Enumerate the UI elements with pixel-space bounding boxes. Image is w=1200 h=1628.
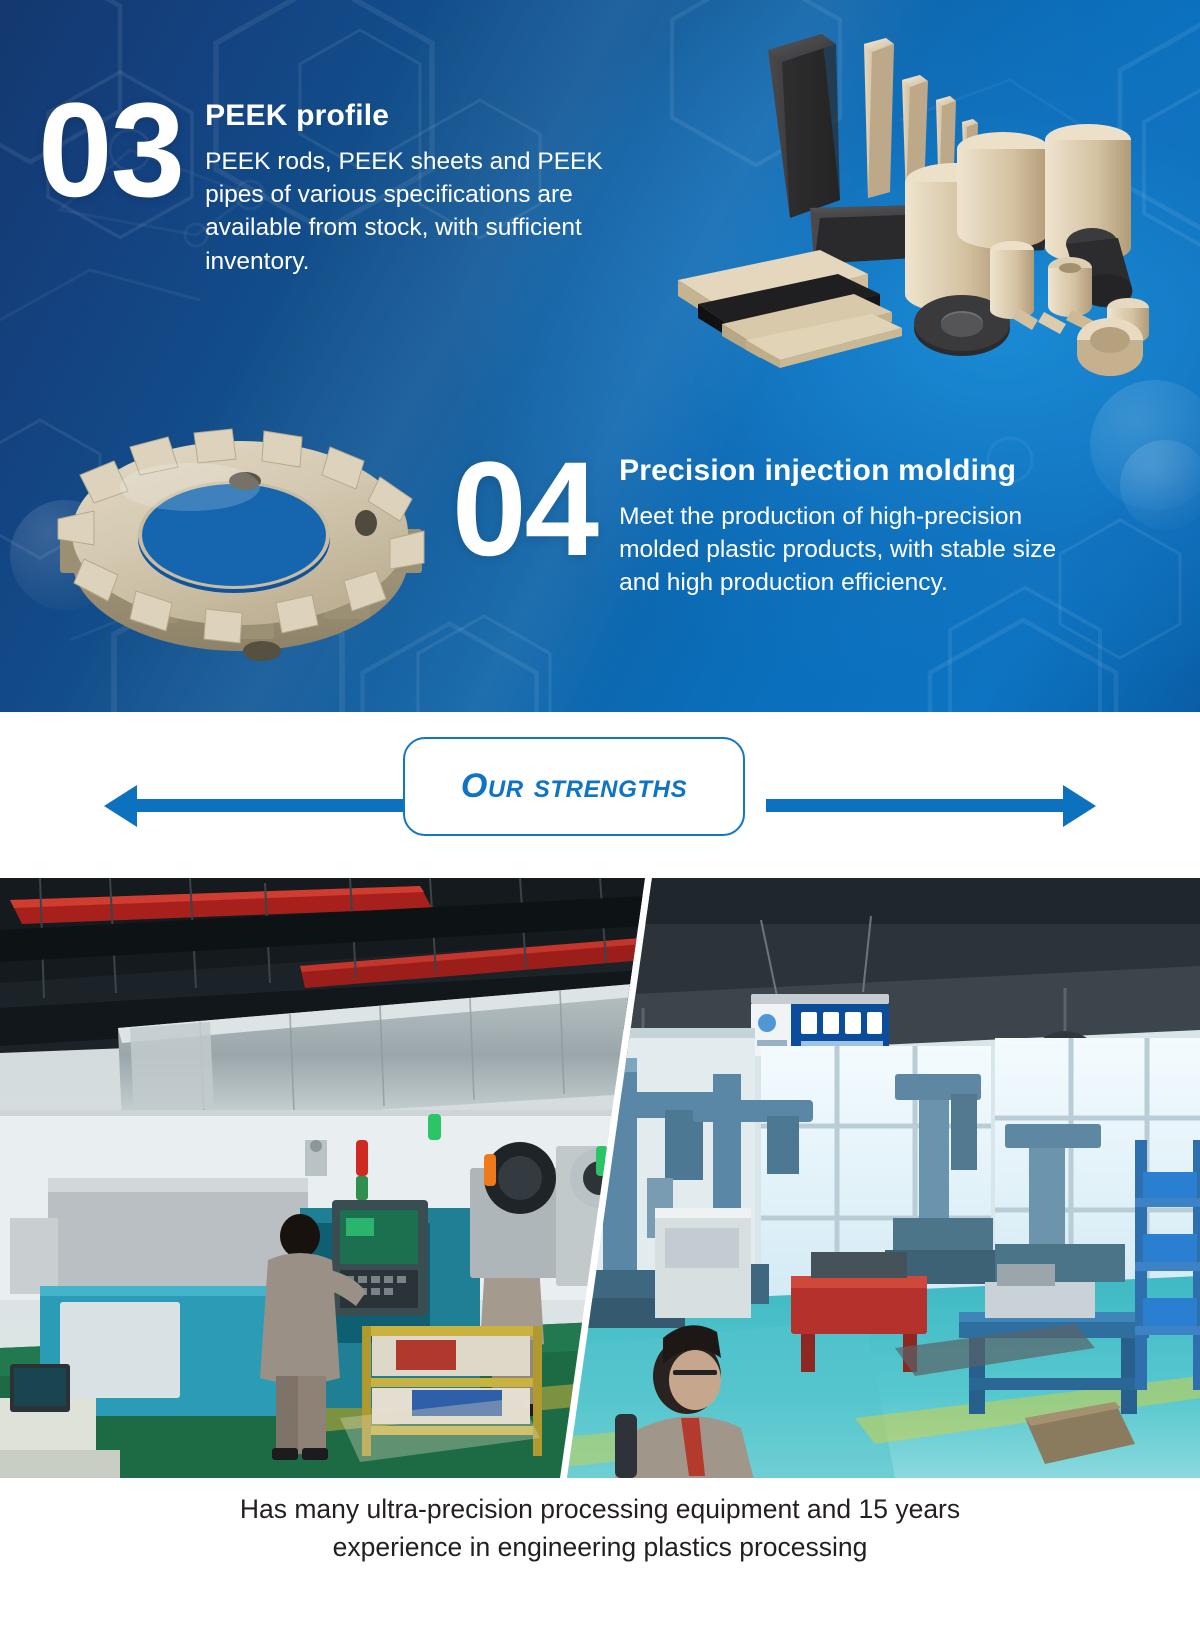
feature-number-03: 03 [38,89,183,212]
cnc-machining-workshop-photo [0,878,645,1478]
gallery-caption: Has many ultra-precision processing equi… [0,1490,1200,1567]
right-arrow-line [766,799,1066,812]
factory-photo-gallery [0,878,1200,1478]
page-root: 03 PEEK profile PEEK rods, PEEK sheets a… [0,0,1200,1628]
caption-line-2: experience in engineering plastics proce… [110,1528,1090,1566]
mold-workshop-photo [555,878,1200,1478]
feature-title-04: Precision injection molding [619,454,1099,488]
caption-line-1: Has many ultra-precision processing equi… [110,1490,1090,1528]
left-arrow-line [134,799,434,812]
strengths-banner: Our strengths [0,712,1200,894]
feature-item-04: 04 Precision injection molding Meet the … [452,450,1099,600]
feature-description-04: Meet the production of high-precision mo… [619,500,1099,600]
feature-item-03: 03 PEEK profile PEEK rods, PEEK sheets a… [38,95,625,278]
feature-title-03: PEEK profile [205,99,625,133]
peek-injection-molded-gear-ring-photo [45,395,435,685]
right-arrow-icon [1063,785,1096,827]
left-arrow-icon [104,785,137,827]
strengths-label-box: Our strengths [403,737,745,836]
feature-description-03: PEEK rods, PEEK sheets and PEEK pipes of… [205,145,625,278]
strengths-label: Our strengths [461,767,687,806]
glow-dot-decoration-3 [1120,440,1200,530]
feature-number-04: 04 [452,448,597,571]
hero-section: 03 PEEK profile PEEK rods, PEEK sheets a… [0,0,1200,712]
peek-profiles-rods-sheets-pipes-photo [640,22,1180,382]
